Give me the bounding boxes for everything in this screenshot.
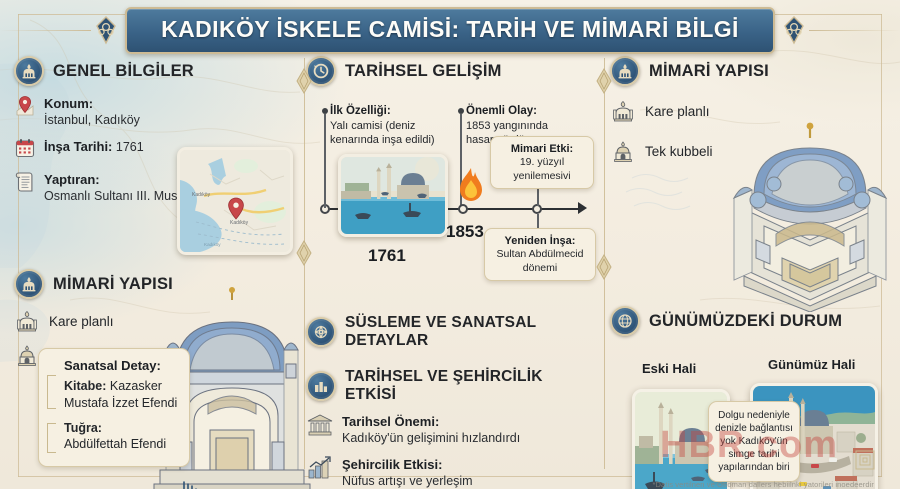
header-rule-right — [809, 30, 900, 31]
callout-key: Tuğra: — [64, 420, 178, 437]
section-title: GÜNÜMÜZDEKİ DURUM — [649, 312, 842, 331]
bullet-text: Tek kubbeli — [645, 144, 713, 159]
comparison-note-bubble: Dolgu nedeniyle denizle bağlantısı yok K… — [708, 401, 800, 482]
bullet-text: Kare planlı — [49, 314, 114, 329]
calendar-icon — [14, 138, 36, 162]
fact-label: Yaptıran: — [44, 171, 198, 188]
fact-label: Şehircilik Etkisi: — [342, 456, 510, 473]
bracket-ornament — [47, 423, 56, 453]
section-architecture-right: MİMARİ YAPISI — [610, 56, 890, 86]
fact-value: Osmanlı Sultanı III. Mustafa — [44, 188, 198, 205]
column-divider-1 — [296, 58, 312, 469]
diamond-ornament-icon — [596, 68, 612, 94]
map-label: Kadıköy — [204, 242, 221, 247]
label-gunumuz-hali-top: Günümüz Hali — [768, 357, 855, 372]
fact-value: 1761 — [116, 140, 144, 154]
mosque-medallion-icon — [14, 56, 44, 86]
callout-value: Abdülfettah Efendi — [64, 437, 166, 451]
rosette-ornament-right — [779, 15, 809, 45]
timeline-arrow-icon — [578, 202, 587, 214]
timeline-stem — [537, 188, 539, 206]
header: KADIKÖY İSKELE CAMİSİ: TARİH VE MİMARİ B… — [0, 6, 900, 54]
fact-value: Kadıköy'ün gelişimini hızlandırdı — [342, 430, 520, 447]
scroll-icon — [14, 171, 36, 195]
artistic-detail-callout: Sanatsal Detay: Kitabe: Kazasker Mustafa… — [38, 348, 190, 467]
column-divider-2 — [596, 58, 612, 469]
mosque-medallion-icon — [14, 269, 44, 299]
section-title: TARİHSEL GELİŞİM — [345, 62, 502, 81]
diamond-ornament-icon — [596, 254, 612, 280]
fact-label: Tarihsel Önemi: — [342, 413, 520, 430]
fact-value: Nüfus artışı ve yerleşim sürecine katkı … — [342, 473, 510, 489]
map-pin-icon — [14, 95, 36, 119]
mosque-isometric-cutaway-illustration — [720, 122, 898, 312]
infographic-poster: KADIKÖY İSKELE CAMİSİ: TARİH VE MİMARİ B… — [0, 0, 900, 489]
note-label: Önemli Olay: — [466, 105, 537, 117]
callout-line: Tuğra: Abdülfettah Efendi — [64, 420, 178, 454]
mosque-plan-icon — [610, 98, 636, 124]
historical-timeline: İlk Özelliği: Yalı camisi (deniz kenarın… — [306, 96, 594, 286]
fact-label: Konum: — [44, 95, 140, 112]
globe-medallion-icon — [610, 306, 640, 336]
diamond-ornament-icon — [296, 240, 312, 266]
flame-icon — [456, 166, 486, 208]
section-title: SÜSLEME VE SANATSAL DETAYLAR — [345, 314, 594, 350]
timeline-note-1: İlk Özelliği: Yalı camisi (deniz kenarın… — [330, 104, 448, 148]
fact-konum: Konum: İstanbul, Kadıköy — [14, 95, 296, 129]
middle-column: TARİHSEL GELİŞİM İlk Özelliği: Yalı cami… — [306, 56, 594, 489]
callout-title: Sanatsal Detay: — [64, 358, 178, 373]
corner-ornament-icon — [852, 447, 878, 473]
bullet-text: Kare planlı — [645, 104, 710, 119]
section-title: GENEL BİLGİLER — [53, 62, 194, 81]
callout-line: Kitabe: Kazasker Mustafa İzzet Efendi — [64, 378, 178, 412]
title-banner: KADIKÖY İSKELE CAMİSİ: TARİH VE MİMARİ B… — [125, 7, 775, 54]
mosque-medallion-icon — [610, 56, 640, 86]
bullet-kare-planli: Kare planlı — [610, 98, 890, 124]
section-timeline: TARİHSEL GELİŞİM — [306, 56, 594, 86]
callout-label: Yeniden İnşa: — [505, 235, 576, 247]
timeline-year-1853: 1853 — [446, 222, 484, 242]
map-label: Kadıköy — [230, 220, 249, 226]
timeline-callout-yeniden-insa: Yeniden İnşa: Sultan Abdülmecid dönemi — [484, 228, 596, 281]
header-rule-left — [0, 30, 91, 31]
section-impact: TARİHSEL VE ŞEHİRCİLİK ETKİSİ — [306, 368, 594, 404]
note-text: Yalı camisi (deniz kenarında inşa edildi… — [330, 120, 435, 146]
page-title: KADIKÖY İSKELE CAMİSİ: TARİH VE MİMARİ B… — [161, 16, 739, 43]
timeline-callout-mimari-etki: Mimari Etki: 19. yüzyıl yenilemesivi — [490, 136, 594, 189]
diamond-ornament-icon — [296, 68, 312, 94]
note-label: İlk Özelliği: — [330, 105, 391, 117]
label-eski-hali-top: Eski Hali — [642, 361, 696, 376]
fact-tarihsel-onemi: Tarihsel Önemi: Kadıköy'ün gelişimini hı… — [306, 413, 594, 447]
left-column: GENEL BİLGİLER Konum: İstanbul, Kadıköy — [14, 56, 296, 376]
callout-key: Kitabe: — [64, 379, 106, 393]
timeline-stem — [324, 114, 326, 208]
dome-icon — [14, 342, 40, 368]
timeline-node-1853 — [458, 204, 468, 214]
bracket-ornament — [47, 375, 56, 409]
fact-value: İstanbul, Kadıköy — [44, 112, 140, 129]
right-column: MİMARİ YAPISI Kare planlı — [610, 56, 890, 489]
section-ornament: SÜSLEME VE SANATSAL DETAYLAR — [306, 314, 594, 350]
callout-text: Sultan Abdülmecid dönemi — [497, 248, 584, 273]
map-label: Kadıköy — [192, 192, 211, 198]
kadikoy-location-map[interactable]: Kadıköy Kadıköy Kadıköy — [177, 147, 293, 255]
fact-label: İnşa Tarihi: — [44, 139, 112, 154]
section-general-info: GENEL BİLGİLER — [14, 56, 296, 86]
callout-label: Mimari Etki: — [511, 143, 573, 155]
callout-text: 19. yüzyıl yenilemesivi — [513, 156, 570, 181]
footnote-text: *Datis vertilnen ve Ottoman dallers hebi… — [653, 480, 874, 489]
fact-sehircilik-etkisi: Şehircilik Etkisi: Nüfus artışı ve yerle… — [306, 456, 594, 489]
rosette-ornament-left — [91, 15, 121, 45]
section-title: MİMARİ YAPISI — [649, 62, 769, 81]
section-title: TARİHSEL VE ŞEHİRCİLİK ETKİSİ — [345, 368, 594, 404]
dome-icon — [610, 138, 636, 164]
ottoman-tughra-calligraphy — [154, 476, 212, 489]
timeline-year-1761: 1761 — [368, 246, 406, 266]
historic-mosque-waterfront-photo[interactable] — [338, 154, 448, 237]
mosque-plan-icon — [14, 308, 40, 334]
